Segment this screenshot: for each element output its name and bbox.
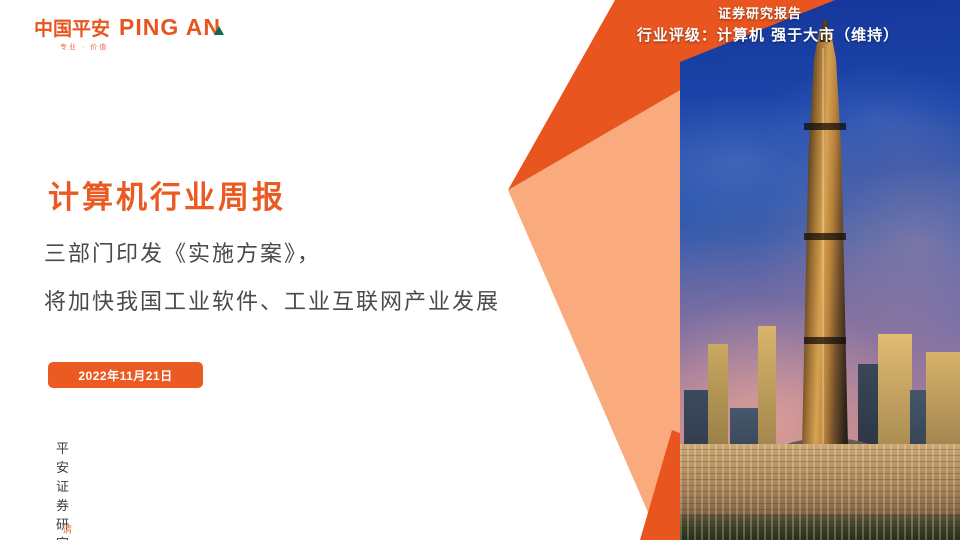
- subtitle-line-1: 三部门印发《实施方案》，: [44, 236, 321, 268]
- subtitle-line-2: 将加快我国工业软件、工业互联网产业发展: [44, 284, 500, 316]
- cover-slide: 证券研究报告 行业评级：计算机 强于大市（维持） 中国平安 PING AN 专业…: [0, 0, 960, 540]
- report-type-label: 证券研究报告: [560, 6, 960, 25]
- logo-chinese-text: 中国平安: [34, 14, 110, 41]
- industry-rating-label: 行业评级：计算机 强于大市（维持）: [576, 25, 960, 47]
- ping-an-logo: 中国平安 PING AN 专业 · 价值: [34, 14, 224, 52]
- foreground-buildings: [680, 444, 960, 540]
- window-grid: [680, 444, 960, 540]
- tower-band: [804, 337, 846, 344]
- skyline-photo: [680, 0, 960, 540]
- logo-wordmark: PING AN: [119, 14, 221, 41]
- tower-band: [804, 233, 846, 240]
- tower-band: [804, 123, 846, 130]
- city-skyline: [680, 210, 960, 540]
- page-title: 计算机行业周报: [48, 172, 286, 217]
- logo-english-text: PING AN: [119, 14, 224, 41]
- logo-tagline: 专业 · 价值: [60, 42, 224, 52]
- triangle-mark-icon: [214, 26, 224, 35]
- report-header: 证券研究报告 行业评级：计算机 强于大市（维持）: [560, 6, 960, 47]
- disclaimer-text: 请务必阅读正文后免责条款: [62, 521, 73, 540]
- tower-highlight-edge: [822, 48, 824, 448]
- logo-row: 中国平安 PING AN: [34, 14, 224, 41]
- publication-date-badge: 2022年11月21日: [48, 362, 203, 388]
